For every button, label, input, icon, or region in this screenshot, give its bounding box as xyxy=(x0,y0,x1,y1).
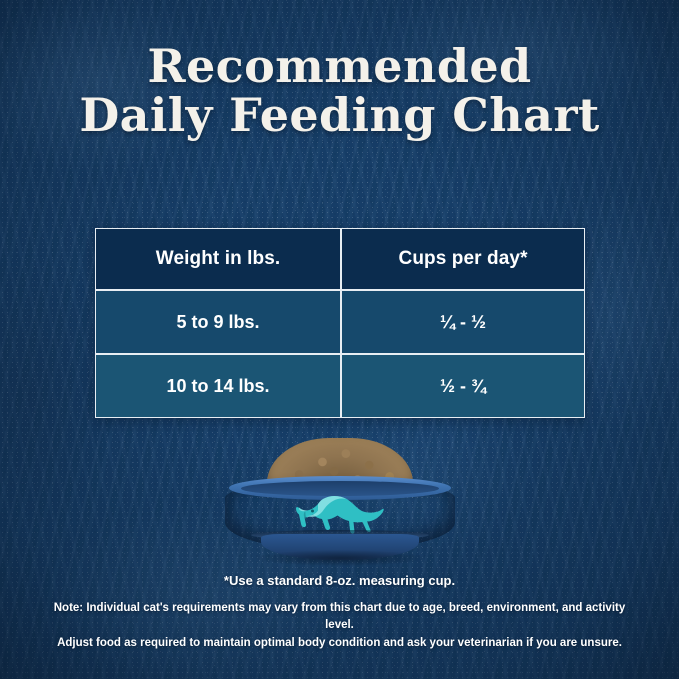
food-bowl-illustration xyxy=(225,438,455,568)
page-title: Recommended Daily Feeding Chart xyxy=(0,42,679,140)
table-header-row: Weight in lbs. Cups per day* xyxy=(95,228,585,290)
cell-weight: 10 to 14 lbs. xyxy=(95,354,341,418)
table-header: Weight in lbs. Cups per day* xyxy=(95,228,585,290)
column-header-cups: Cups per day* xyxy=(341,228,585,290)
footnote-disclaimer: Note: Individual cat's requirements may … xyxy=(40,600,639,652)
cell-weight: 5 to 9 lbs. xyxy=(95,290,341,354)
title-line-2: Daily Feeding Chart xyxy=(0,91,679,140)
footnote-disclaimer-line-1: Note: Individual cat's requirements may … xyxy=(40,600,639,635)
cell-cups: ¼ - ½ xyxy=(341,290,585,354)
cell-cups: ½ - ¾ xyxy=(341,354,585,418)
title-line-1: Recommended xyxy=(0,42,679,91)
footnote-disclaimer-line-2: Adjust food as required to maintain opti… xyxy=(40,635,639,652)
feeding-chart-table: Weight in lbs. Cups per day* 5 to 9 lbs.… xyxy=(95,228,585,418)
table-body: 5 to 9 lbs. ¼ - ½ 10 to 14 lbs. ½ - ¾ xyxy=(95,290,585,418)
footnote-measuring-cup: *Use a standard 8-oz. measuring cup. xyxy=(0,573,679,588)
column-header-weight: Weight in lbs. xyxy=(95,228,341,290)
feeding-chart-page: Recommended Daily Feeding Chart Weight i… xyxy=(0,0,679,679)
bowl-shadow xyxy=(255,550,425,566)
table-row: 10 to 14 lbs. ½ - ¾ xyxy=(95,354,585,418)
table-row: 5 to 9 lbs. ¼ - ½ xyxy=(95,290,585,354)
